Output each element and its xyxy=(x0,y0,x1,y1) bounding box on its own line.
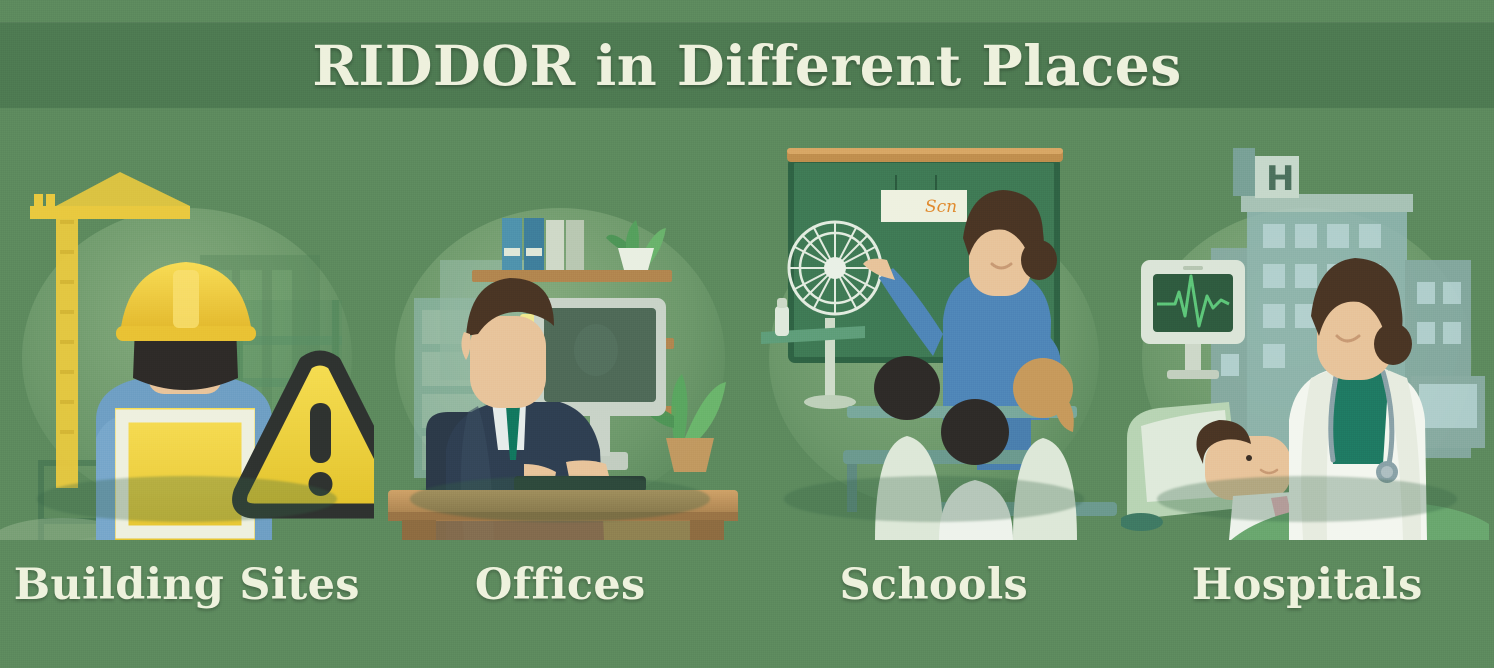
panel-label-schools: Schools xyxy=(839,560,1028,610)
panel-label-offices: Offices xyxy=(475,560,646,610)
panel-building-sites[interactable] xyxy=(0,120,374,540)
panel-label-row: Building Sites Offices Schools Hospitals xyxy=(0,540,1494,630)
label-cell-schools: Schools xyxy=(747,540,1121,630)
panel-row: Scn xyxy=(0,120,1494,540)
panel-hospitals[interactable]: H xyxy=(1121,120,1494,540)
panel-offices[interactable] xyxy=(374,120,748,540)
page-title: RIDDOR in Different Places xyxy=(0,22,1494,108)
label-cell-building-sites: Building Sites xyxy=(0,540,374,630)
wall-shelf-top xyxy=(472,218,672,282)
panel-ground-shadow xyxy=(37,476,337,522)
panel-ground-shadow xyxy=(1157,476,1457,522)
label-cell-offices: Offices xyxy=(374,540,748,630)
svg-text:Scn: Scn xyxy=(925,197,957,217)
panel-schools[interactable]: Scn xyxy=(747,120,1121,540)
panel-label-hospitals: Hospitals xyxy=(1192,560,1423,610)
panel-label-building-sites: Building Sites xyxy=(14,560,360,610)
h-sign-label: H xyxy=(1266,159,1294,199)
poster-canvas: RIDDOR in Different Places xyxy=(0,0,1494,668)
panel-ground-shadow xyxy=(784,476,1084,522)
panel-ground-shadow xyxy=(410,476,710,522)
label-cell-hospitals: Hospitals xyxy=(1121,540,1494,630)
potted-plant-shelf xyxy=(606,220,666,270)
ring-binders xyxy=(502,218,584,270)
